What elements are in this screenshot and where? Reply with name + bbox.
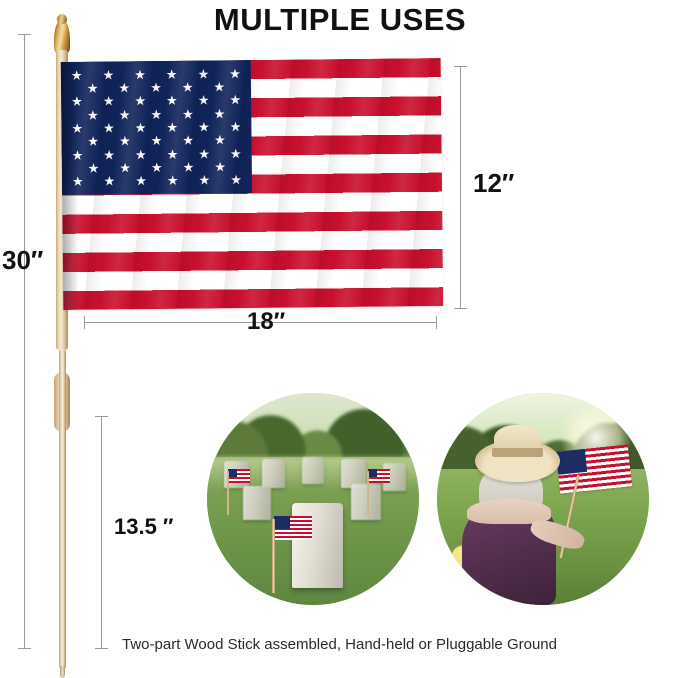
- mini-flag-stick: [272, 519, 275, 593]
- headstone-background: [262, 459, 285, 489]
- flag-star: ★: [213, 134, 226, 147]
- flag-star: ★: [197, 94, 210, 107]
- flag-star: ★: [214, 160, 227, 173]
- mini-flag-canton: [274, 516, 290, 529]
- flag-star: ★: [103, 175, 116, 188]
- mini-flag-cloth: [368, 469, 390, 483]
- flag-star: ★: [87, 135, 100, 148]
- flag-height-rule-cap-top: [454, 66, 467, 67]
- united-states-flag: ★★★★★★★★★★★★★★★★★★★★★★★★★★★★★★★★★★★★★★★★…: [61, 58, 444, 310]
- mini-flag-canton: [228, 469, 237, 477]
- straw-hat-band: [492, 448, 543, 456]
- flag-star: ★: [70, 69, 83, 82]
- flag-star: ★: [230, 173, 243, 186]
- flag-width-label: 18″: [247, 308, 285, 336]
- flag-star: ★: [229, 93, 242, 106]
- flag-height-label: 12″: [473, 168, 514, 199]
- flag-star: ★: [133, 68, 146, 81]
- flag-star: ★: [150, 108, 163, 121]
- flag-star: ★: [198, 174, 211, 187]
- flag-star: ★: [198, 147, 211, 160]
- flag-star: ★: [71, 175, 84, 188]
- flag-star: ★: [197, 120, 210, 133]
- flag-star: ★: [166, 147, 179, 160]
- mini-flag-cloth: [228, 469, 250, 483]
- flag-star: ★: [229, 120, 242, 133]
- lower-stick-rule: [101, 416, 102, 648]
- flag-star: ★: [134, 121, 147, 134]
- flag-star: ★: [166, 121, 179, 134]
- flag-star: ★: [71, 122, 84, 135]
- flag-star: ★: [71, 148, 84, 161]
- mini-flag-stick: [227, 471, 229, 515]
- flag-star: ★: [102, 68, 115, 81]
- flag-star: ★: [181, 81, 194, 94]
- total-length-rule: [24, 34, 25, 648]
- flag-star: ★: [118, 135, 131, 148]
- mini-flag-stick: [367, 471, 369, 515]
- cemetery-headstone-with-flags: [207, 393, 419, 605]
- flag-height-rule: [460, 66, 461, 308]
- gold-spear-finial: [54, 20, 70, 54]
- flag-star: ★: [197, 67, 210, 80]
- flag-star: ★: [149, 81, 162, 94]
- flag-star: ★: [150, 161, 163, 174]
- flag-star: ★: [182, 134, 195, 147]
- flag-star: ★: [87, 161, 100, 174]
- flag-star: ★: [165, 68, 178, 81]
- flag-star: ★: [134, 148, 147, 161]
- flag-height-rule-cap-bottom: [454, 308, 467, 309]
- handheld-flag-cloth: [556, 444, 632, 494]
- flag-star: ★: [86, 108, 99, 121]
- flag-star: ★: [229, 147, 242, 160]
- flag-star: ★: [86, 82, 99, 95]
- flag-star: ★: [135, 174, 148, 187]
- handheld-flag-canton: [556, 449, 587, 475]
- total-length-label: 30″: [2, 245, 43, 276]
- flag-star: ★: [134, 94, 147, 107]
- mini-flag: [364, 469, 390, 515]
- flag-star: ★: [213, 107, 226, 120]
- mini-flag: [268, 516, 312, 594]
- flag-star: ★: [118, 81, 131, 94]
- flag-star: ★: [119, 161, 132, 174]
- flag-stars: ★★★★★★★★★★★★★★★★★★★★★★★★★★★★★★★★★★★★★★★★…: [61, 60, 252, 195]
- flag-width-rule-cap-right: [436, 316, 437, 329]
- caption-text: Two-part Wood Stick assembled, Hand-held…: [0, 636, 679, 653]
- page-title: MULTIPLE USES: [150, 2, 530, 38]
- lower-dowel: [59, 350, 66, 668]
- flag-star: ★: [213, 80, 226, 93]
- flag-star: ★: [70, 95, 83, 108]
- flag-star: ★: [181, 107, 194, 120]
- flag-star: ★: [150, 134, 163, 147]
- flag-star: ★: [228, 67, 241, 80]
- lower-stick-length-label: 13.5 ″: [114, 514, 173, 540]
- mini-flag-canton: [368, 469, 377, 477]
- headstone-background: [302, 457, 323, 485]
- flag-star: ★: [182, 160, 195, 173]
- mini-flag: [224, 469, 250, 515]
- flag-star: ★: [118, 108, 131, 121]
- woman-holding-flag-in-field: [437, 393, 649, 605]
- flag-star: ★: [165, 94, 178, 107]
- flag-star: ★: [103, 148, 116, 161]
- product-infographic: MULTIPLE USES 30″ 12″ 18″ 13.5 ″ ★★★★★★★…: [0, 0, 679, 666]
- flag-star: ★: [102, 95, 115, 108]
- flag-star: ★: [102, 121, 115, 134]
- flag-star: ★: [166, 174, 179, 187]
- total-length-rule-cap-top: [18, 34, 31, 35]
- mini-flag-cloth: [274, 516, 312, 540]
